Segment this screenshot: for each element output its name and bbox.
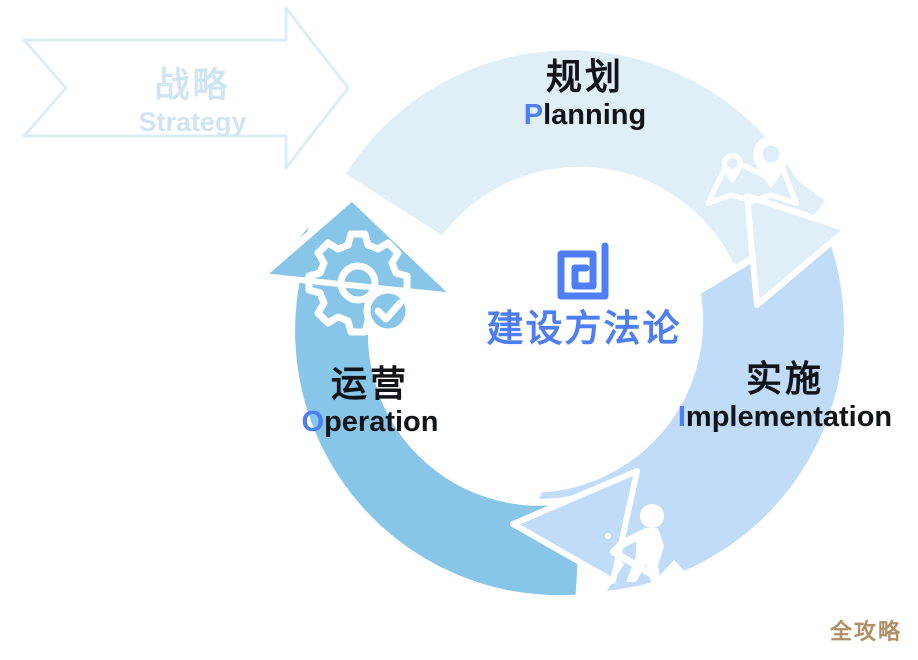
strategy-label: 战略 Strategy xyxy=(60,68,325,136)
operation-rest: peration xyxy=(324,406,438,438)
implementation-label: 实施 Implementation xyxy=(660,360,910,432)
operation-label-en: Operation xyxy=(245,407,495,437)
operation-label-cn: 运营 xyxy=(245,365,495,403)
operation-label: 运营 Operation xyxy=(245,365,495,437)
strategy-label-cn: 战略 xyxy=(60,68,325,105)
planning-label: 规划 Planning xyxy=(460,58,710,130)
operation-initial: O xyxy=(302,406,325,438)
planning-label-cn: 规划 xyxy=(460,58,710,96)
implementation-initial: I xyxy=(678,401,686,433)
planning-rest: lanning xyxy=(543,99,646,131)
implementation-rest: mplementation xyxy=(686,401,892,433)
implementation-label-cn: 实施 xyxy=(660,360,910,398)
strategy-label-en: Strategy xyxy=(60,108,325,136)
spiral-square-icon xyxy=(553,240,615,302)
implementation-label-en: Implementation xyxy=(660,402,910,432)
watermark: 全攻略 xyxy=(830,614,902,646)
diagram-canvas: 战略 Strategy 规划 Planning 实施 Implementatio… xyxy=(0,0,918,660)
center-block: 建设方法论 xyxy=(434,240,734,347)
center-title: 建设方法论 xyxy=(434,310,734,347)
planning-initial: P xyxy=(524,99,543,131)
planning-label-en: Planning xyxy=(460,100,710,130)
